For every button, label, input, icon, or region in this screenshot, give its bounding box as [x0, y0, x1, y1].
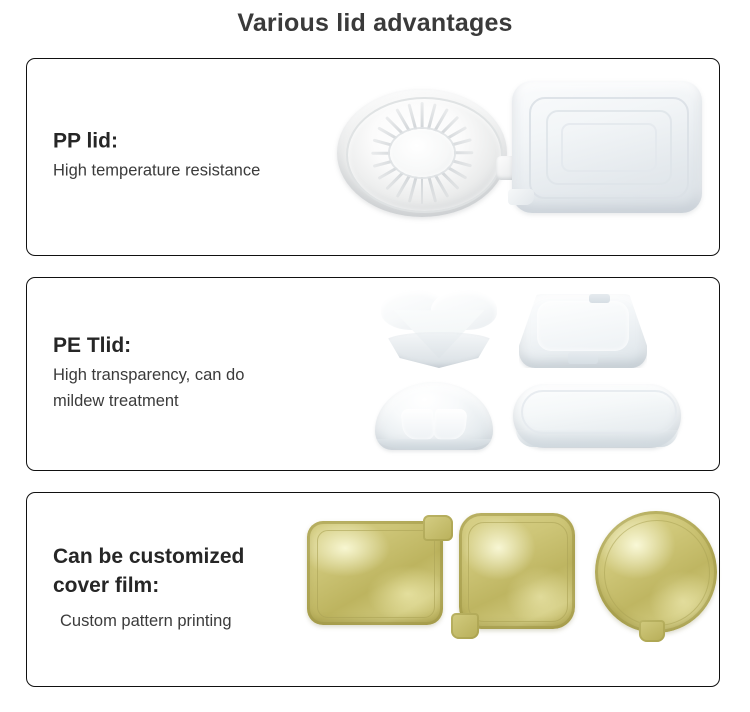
panel-pp-heading: PP lid:	[53, 130, 303, 154]
rectangular-pp-lid	[512, 81, 702, 213]
infographic-page: Various lid advantages PP lid: High temp…	[0, 0, 750, 712]
panel-cover-film-heading-line1: Can be customized	[53, 544, 283, 568]
square-dome-pe-lid-face	[537, 301, 629, 351]
oval-pe-lid-lip	[516, 430, 677, 447]
oval-pe-lid-ridge	[521, 390, 676, 434]
rectangular-gold-cover-film-inner-edge	[317, 530, 436, 617]
panel-pe-heading: PE Tlid:	[53, 334, 293, 358]
panel-cover-film-description: Custom pattern printing	[53, 603, 283, 635]
rectangular-gold-cover-film	[307, 521, 443, 625]
panel-cover-film-artwork	[297, 493, 719, 686]
panel-pe-description-line1: High transparency, can do	[53, 363, 293, 389]
panel-pe-lid: PE Tlid: High transparency, can do milde…	[26, 277, 720, 471]
panel-pe-description-line2: mildew treatment	[53, 389, 293, 415]
panel-pe-text-block: PE Tlid: High transparency, can do milde…	[53, 334, 293, 414]
panel-pp-text-block: PP lid: High temperature resistance	[53, 130, 303, 185]
panel-pp-artwork	[297, 59, 719, 255]
rectangular-gold-cover-film-tab	[423, 515, 453, 541]
square-dome-pe-lid-notch-top	[589, 294, 609, 303]
panel-cover-film-heading-line2: cover film:	[53, 574, 283, 598]
round-gold-cover-film-tab	[639, 620, 665, 642]
square-gold-cover-film-tab	[451, 613, 479, 639]
square-dome-pe-lid-notch-bottom	[568, 352, 599, 364]
page-title: Various lid advantages	[0, 9, 750, 38]
panel-pe-artwork	[297, 278, 719, 470]
heart-pe-lid	[381, 290, 497, 368]
panel-pp-description: High temperature resistance	[53, 159, 303, 185]
rectangular-pp-lid-tab	[508, 189, 534, 205]
square-gold-cover-film	[459, 513, 575, 629]
square-gold-cover-film-inner-edge	[468, 522, 567, 621]
rectangular-pp-lid-ridge-inner	[561, 123, 656, 172]
round-gold-cover-film-inner-edge	[604, 520, 711, 627]
round-pp-lid-center	[390, 129, 455, 178]
heart-pe-lid-skirt	[384, 332, 493, 368]
round-pp-lid	[337, 89, 507, 217]
round-gold-cover-film	[595, 511, 717, 633]
panel-cover-film-text-block: Can be customized cover film: Custom pat…	[53, 544, 283, 634]
oval-pe-lid	[513, 384, 681, 448]
panel-pp-lid: PP lid: High temperature resistance	[26, 58, 720, 256]
square-dome-pe-lid	[519, 294, 647, 368]
dome-pe-lid	[375, 382, 493, 450]
panel-cover-film: Can be customized cover film: Custom pat…	[26, 492, 720, 687]
